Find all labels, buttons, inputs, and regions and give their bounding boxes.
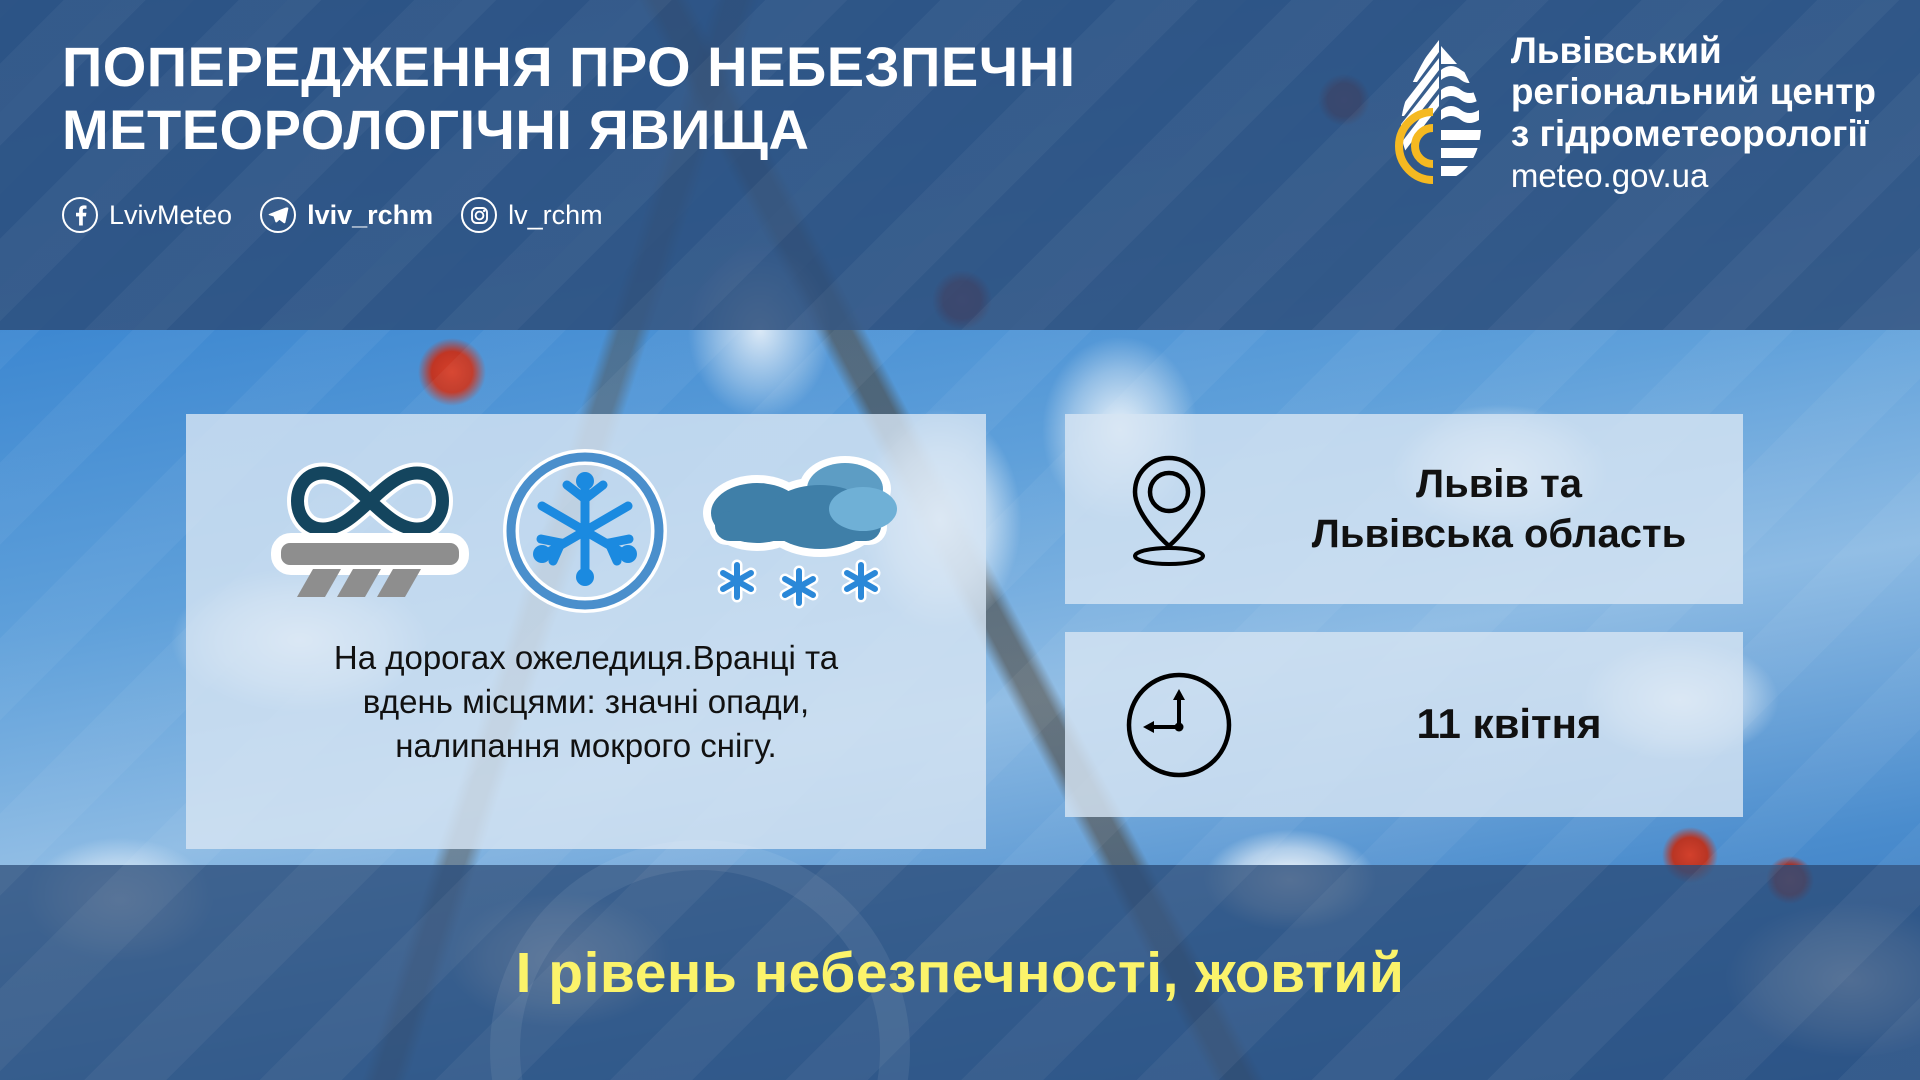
date-value: 11 квітня <box>1275 698 1743 751</box>
header-bar: ПОПЕРЕДЖЕННЯ ПРО НЕБЕЗПЕЧНІ МЕТЕОРОЛОГІЧ… <box>0 0 1920 330</box>
organization-logo-block: Львівський регіональний центр з гідромет… <box>1371 0 1920 195</box>
logo-line-2: регіональний центр <box>1511 71 1876 112</box>
weather-warning-poster: ПОПЕРЕДЖЕННЯ ПРО НЕБЕЗПЕЧНІ МЕТЕОРОЛОГІЧ… <box>0 0 1920 1080</box>
social-facebook[interactable]: LvivMeteo <box>62 197 232 233</box>
weather-icon-row <box>265 436 907 626</box>
social-instagram[interactable]: lv_rchm <box>461 197 603 233</box>
telegram-icon <box>260 197 296 233</box>
header-title-column: ПОПЕРЕДЖЕННЯ ПРО НЕБЕЗПЕЧНІ МЕТЕОРОЛОГІЧ… <box>0 0 1371 233</box>
location-panel: Львів та Львівська область <box>1065 414 1743 604</box>
social-instagram-handle: lv_rchm <box>508 202 603 229</box>
droplet-radar-logo <box>1371 30 1489 190</box>
organization-name: Львівський регіональний центр з гідромет… <box>1511 30 1876 195</box>
danger-level-text: І рівень небезпечності, жовтий <box>516 940 1405 1006</box>
map-pin-icon <box>1123 450 1215 568</box>
organization-website[interactable]: meteo.gov.ua <box>1511 158 1876 195</box>
social-facebook-handle: LvivMeteo <box>109 202 232 229</box>
icy-road-icon <box>265 447 475 615</box>
page-title: ПОПЕРЕДЖЕННЯ ПРО НЕБЕЗПЕЧНІ МЕТЕОРОЛОГІЧ… <box>62 36 1242 161</box>
danger-level-bar: І рівень небезпечності, жовтий <box>0 865 1920 1080</box>
content-area: На дорогах ожеледиця.Вранці та вдень міс… <box>0 330 1920 865</box>
location-value: Львів та Львівська область <box>1255 459 1743 560</box>
social-links: LvivMeteo lviv_rchm <box>62 197 1371 233</box>
cloud-snow-icon <box>695 447 907 615</box>
date-panel: 11 квітня <box>1065 632 1743 817</box>
social-telegram[interactable]: lviv_rchm <box>260 197 433 233</box>
social-telegram-handle: lviv_rchm <box>307 202 433 229</box>
logo-line-1: Львівський <box>1511 30 1876 71</box>
instagram-icon <box>461 197 497 233</box>
warning-description-text: На дорогах ожеледиця.Вранці та вдень міс… <box>308 636 864 769</box>
snowflake-badge-icon <box>501 447 669 615</box>
warning-description-panel: На дорогах ожеледиця.Вранці та вдень міс… <box>186 414 986 849</box>
clock-icon <box>1123 669 1235 781</box>
logo-line-3: з гідрометеорології <box>1511 113 1876 154</box>
facebook-icon <box>62 197 98 233</box>
